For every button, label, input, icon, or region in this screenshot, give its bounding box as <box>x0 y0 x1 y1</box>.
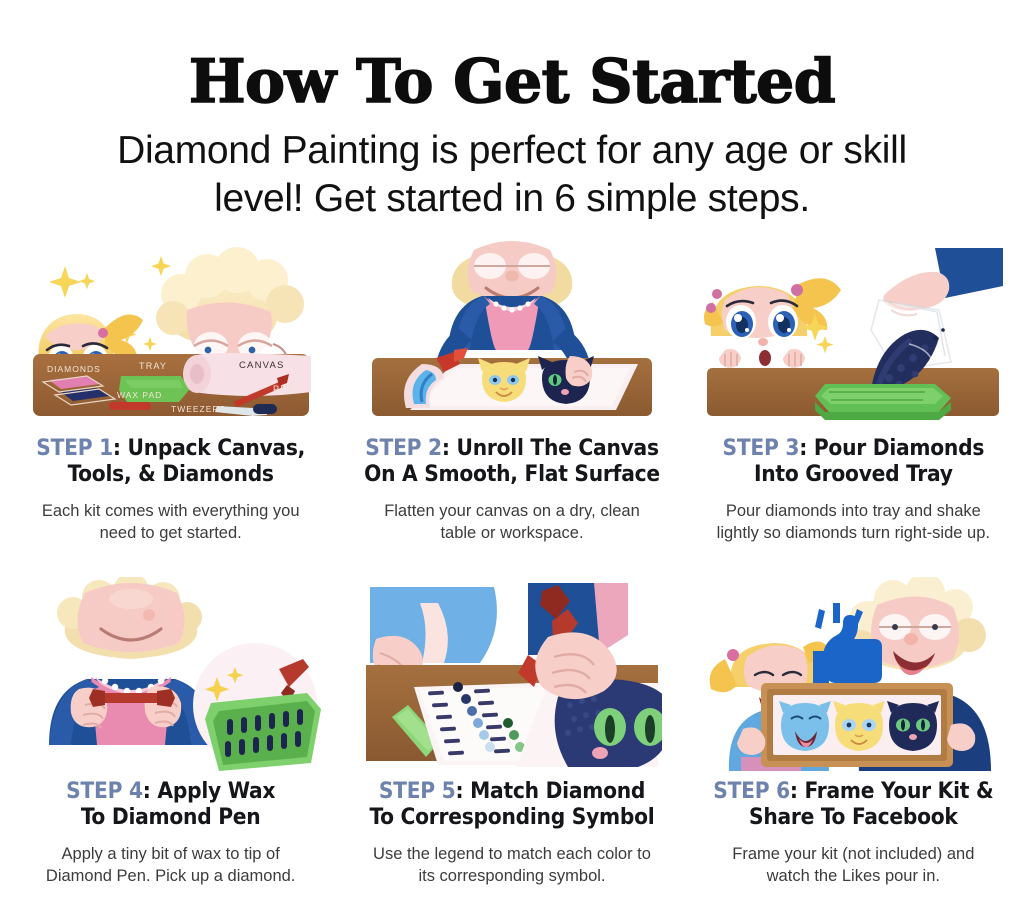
step-title-line1-4: : Apply Wax <box>143 778 275 804</box>
step-card-2: STEP 2: Unroll The Canvas On A Smooth, F… <box>341 232 682 577</box>
step-title-line2-3: Into Grooved Tray <box>754 461 953 487</box>
step-body-6: Frame your kit (not included) and watch … <box>697 843 1010 887</box>
illustration-unpack-kit: CANVAS DIAMONDS TRAY <box>14 232 327 428</box>
step-title-line1-3: : Pour Diamonds <box>799 435 984 461</box>
step-number-6: STEP 6 <box>713 778 790 804</box>
step-card-3: STEP 3: Pour Diamonds Into Grooved Tray … <box>683 232 1024 577</box>
step-body-5: Use the legend to match each color to it… <box>355 843 668 887</box>
step-card-4: STEP 4: Apply Wax To Diamond Pen Apply a… <box>0 577 341 922</box>
step-number-4: STEP 4 <box>66 778 143 804</box>
framed-canvas <box>761 683 953 767</box>
page-subtitle: Diamond Painting is perfect for any age … <box>0 127 1024 222</box>
step-card-5: STEP 5: Match Diamond To Corresponding S… <box>341 577 682 922</box>
step-title-line2-1: Tools, & Diamonds <box>68 461 274 487</box>
step-card-6: STEP 6: Frame Your Kit & Share To Facebo… <box>683 577 1024 922</box>
illustration-frame-share <box>697 577 1010 773</box>
step-title-line1-6: : Frame Your Kit & <box>790 778 993 804</box>
step-title-line2-6: Share To Facebook <box>749 804 958 830</box>
illustration-match-symbol <box>355 577 668 773</box>
label-diamonds: DIAMONDS <box>47 364 101 374</box>
step-title-line2-5: To Corresponding Symbol <box>370 804 655 830</box>
step-title-line2-2: On A Smooth, Flat Surface <box>364 461 660 487</box>
step-title-line2-4: To Diamond Pen <box>81 804 261 830</box>
illustration-apply-wax <box>14 577 327 773</box>
step-body-4: Apply a tiny bit of wax to tip of Diamon… <box>14 843 327 887</box>
label-canvas: CANVAS <box>239 360 285 371</box>
character-girl-surprised <box>704 278 841 368</box>
grooved-tray <box>815 384 951 420</box>
step-title-line1-2: : Unroll The Canvas <box>442 435 659 461</box>
step-heading-1: STEP 1: Unpack Canvas, Tools, & Diamonds <box>14 436 327 487</box>
step-number-1: STEP 1 <box>36 435 113 461</box>
canvas-sheet <box>404 348 638 410</box>
character-woman-wax <box>49 577 213 745</box>
step-body-1: Each kit comes with everything you need … <box>14 500 327 544</box>
step-number-3: STEP 3 <box>723 435 800 461</box>
step-heading-3: STEP 3: Pour Diamonds Into Grooved Tray <box>697 436 1010 487</box>
step-heading-6: STEP 6: Frame Your Kit & Share To Facebo… <box>697 779 1010 830</box>
step-heading-5: STEP 5: Match Diamond To Corresponding S… <box>355 779 668 830</box>
label-tweezers: TWEEZERS <box>171 404 226 414</box>
label-tray: TRAY <box>139 361 167 371</box>
label-pen: PEN <box>273 384 295 394</box>
page-header: How To Get Started Diamond Painting is p… <box>0 0 1024 222</box>
step-title-line1-1: : Unpack Canvas, <box>113 435 305 461</box>
steps-grid: CANVAS DIAMONDS TRAY <box>0 232 1024 922</box>
step-heading-4: STEP 4: Apply Wax To Diamond Pen <box>14 779 327 830</box>
label-wax-pad: WAX PAD <box>117 390 162 400</box>
page-title: How To Get Started <box>0 52 1024 113</box>
step-number-5: STEP 5 <box>379 778 456 804</box>
step-card-1: CANVAS DIAMONDS TRAY <box>0 232 341 577</box>
illustration-pour-diamonds <box>697 232 1010 428</box>
step-body-2: Flatten your canvas on a dry, clean tabl… <box>355 500 668 544</box>
illustration-unroll-canvas <box>355 232 668 428</box>
infographic-page: How To Get Started Diamond Painting is p… <box>0 0 1024 922</box>
step-title-line1-5: : Match Diamond <box>456 778 646 804</box>
step-heading-2: STEP 2: Unroll The Canvas On A Smooth, F… <box>355 436 668 487</box>
step-body-3: Pour diamonds into tray and shake lightl… <box>697 500 1010 544</box>
zoom-inset <box>193 643 321 771</box>
step-number-2: STEP 2 <box>365 435 442 461</box>
character-grandma <box>156 247 304 361</box>
